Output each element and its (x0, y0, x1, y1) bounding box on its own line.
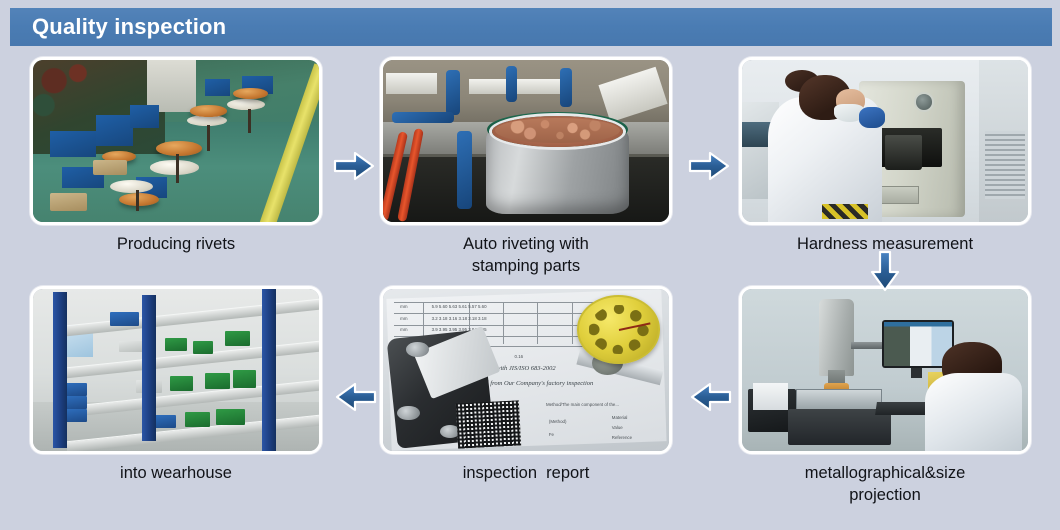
arrow-left-icon (333, 374, 379, 420)
arrow-left-icon (688, 374, 734, 420)
step-4-caption: metallographical&size projection (735, 463, 1035, 507)
step-into-wearhouse[interactable]: into wearhouse (26, 286, 326, 485)
step-4-image (739, 286, 1031, 454)
arrow-right-icon (331, 143, 377, 189)
hardness-tester-photo (742, 60, 1028, 222)
step-2-image (380, 57, 672, 225)
step-2-caption: Auto riveting with stamping parts (376, 234, 676, 278)
arrow-right-icon (686, 143, 732, 189)
factory-floor-photo (33, 60, 319, 222)
step-3-image (739, 57, 1031, 225)
step-6-caption: into wearhouse (26, 463, 326, 485)
dial-indicator (577, 295, 660, 363)
process-flow-diagram: Producing rivets (0, 46, 1060, 530)
step-1-caption: Producing rivets (26, 234, 326, 256)
step-auto-riveting[interactable]: Auto riveting with stamping parts (376, 57, 676, 278)
page-title: Quality inspection (10, 16, 226, 38)
step-producing-rivets[interactable]: Producing rivets (26, 57, 326, 256)
inspection-report-photo: mm mm mm mm 5.9 5.60 5.63 5.61 5.57 5.60… (383, 289, 669, 451)
step-1-image (30, 57, 322, 225)
warehouse-photo (33, 289, 319, 451)
step-6-image (30, 286, 322, 454)
arrow-down-icon (862, 249, 908, 295)
step-hardness-measurement[interactable]: Hardness measurement (735, 57, 1035, 256)
header-bar: Quality inspection (10, 8, 1052, 46)
bowl-feeder-photo (383, 60, 669, 222)
step-5-image: mm mm mm mm 5.9 5.60 5.63 5.61 5.57 5.60… (380, 286, 672, 454)
step-inspection-report[interactable]: mm mm mm mm 5.9 5.60 5.63 5.61 5.57 5.60… (376, 286, 676, 485)
step-metallographical-size-projection[interactable]: metallographical&size projection (735, 286, 1035, 507)
vision-measuring-machine-photo (742, 289, 1028, 451)
step-5-caption: inspection report (376, 463, 676, 485)
